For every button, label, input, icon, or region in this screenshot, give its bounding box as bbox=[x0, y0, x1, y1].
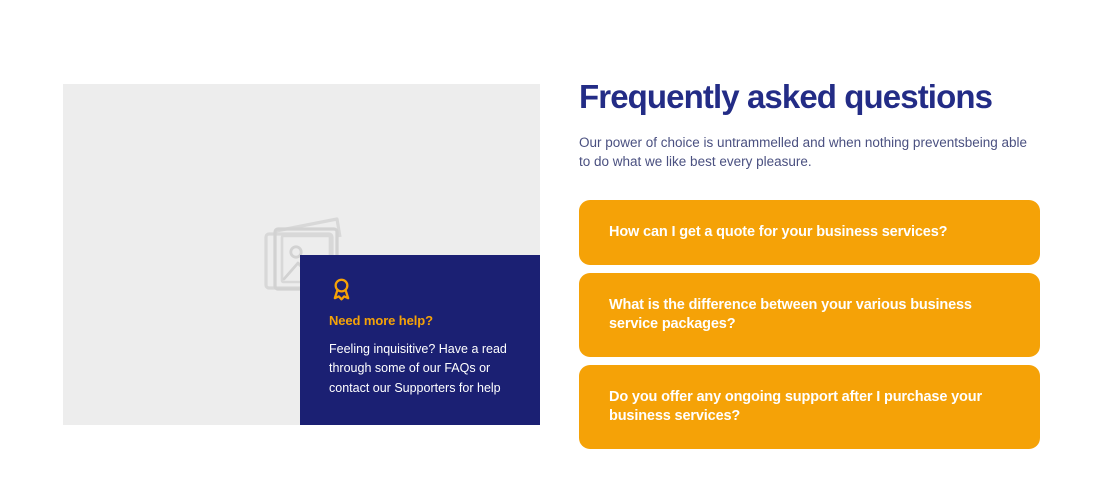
need-more-help-card: Need more help? Feeling inquisitive? Hav… bbox=[300, 255, 540, 425]
faq-question-label: How can I get a quote for your business … bbox=[609, 223, 947, 242]
faq-section: Frequently asked questions Our power of … bbox=[579, 78, 1040, 449]
faq-intro-text: Our power of choice is untrammelled and … bbox=[579, 133, 1037, 171]
faq-accordion-item[interactable]: How can I get a quote for your business … bbox=[579, 200, 1040, 265]
faq-accordion-item[interactable]: What is the difference between your vari… bbox=[579, 273, 1040, 357]
faq-question-label: Do you offer any ongoing support after I… bbox=[609, 388, 1010, 426]
help-card-text: Feeling inquisitive? Have a read through… bbox=[329, 340, 508, 399]
help-card-title: Need more help? bbox=[329, 313, 508, 329]
faq-question-label: What is the difference between your vari… bbox=[609, 296, 1010, 334]
page-title: Frequently asked questions bbox=[579, 78, 1040, 116]
faq-accordion-item[interactable]: Do you offer any ongoing support after I… bbox=[579, 365, 1040, 449]
award-ribbon-icon bbox=[329, 277, 354, 302]
faq-accordion-list: How can I get a quote for your business … bbox=[579, 200, 1040, 449]
